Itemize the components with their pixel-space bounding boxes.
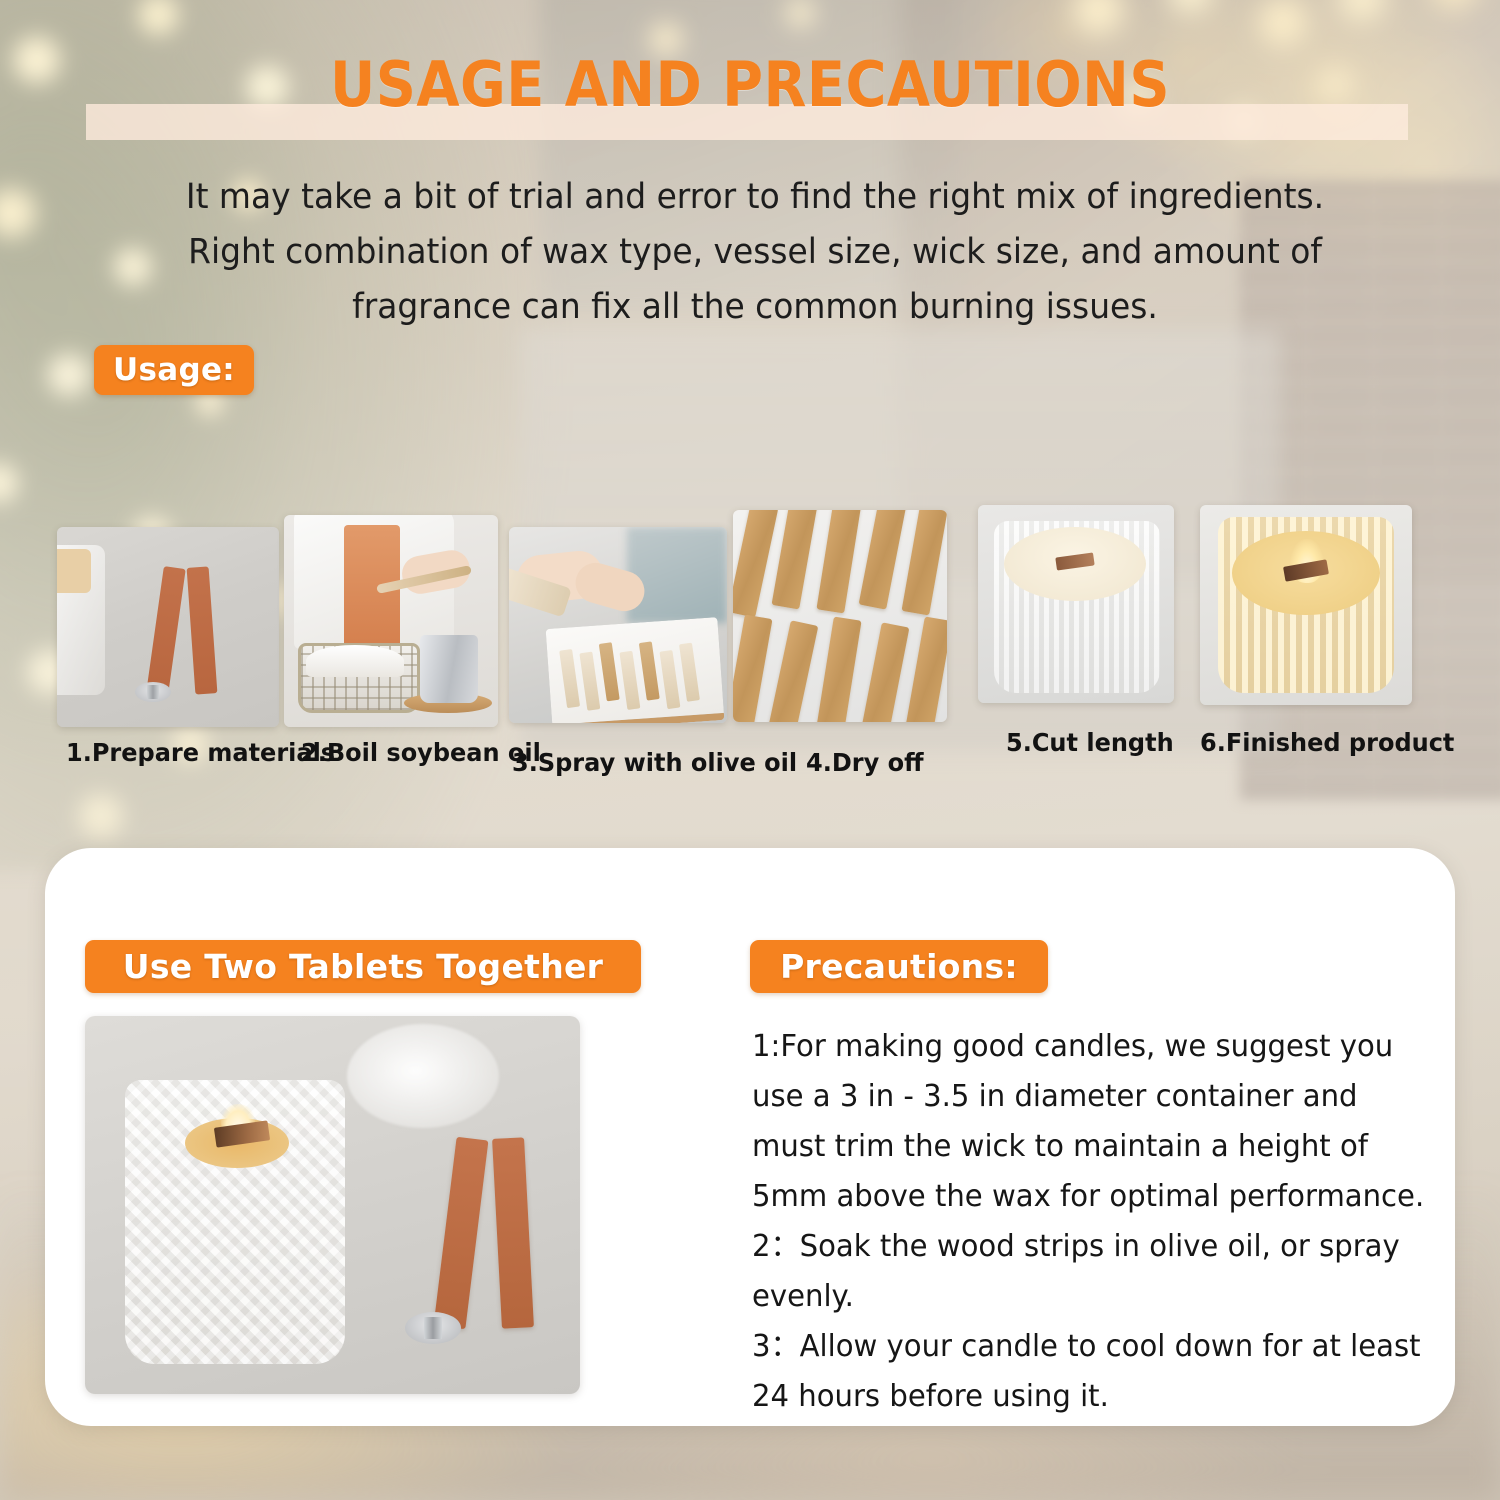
- intro-line-1: It may take a bit of trial and error to …: [149, 170, 1362, 225]
- step2-wax-flakes: [306, 645, 404, 677]
- usage-badge: Usage:: [94, 345, 254, 395]
- intro-line-3: fragrance can fix all the common burning…: [149, 280, 1362, 335]
- intro-line-2: Right combination of wax type, vessel si…: [149, 225, 1362, 280]
- glass-lid: [347, 1024, 499, 1128]
- step-caption: 3.Spray with olive oil: [512, 748, 797, 777]
- step3-wood-strip: [579, 652, 600, 711]
- step3-wood-strip: [639, 641, 660, 700]
- step-caption: 4.Dry off: [806, 748, 924, 777]
- precaution-item: 3：Allow your candle to cool down for at …: [752, 1322, 1431, 1422]
- step-photo-finished-product: [1200, 505, 1412, 705]
- step3-wood-strip: [679, 643, 700, 702]
- precautions-list: 1:For making good candles, we suggest yo…: [752, 1022, 1431, 1422]
- step3-wood-strip: [659, 650, 680, 709]
- metal-wick-clip: [405, 1312, 461, 1344]
- step-caption: 2.Boil soybean oil: [301, 738, 541, 767]
- step-photo-dry-off: [733, 510, 947, 722]
- use-two-tablets-badge: Use Two Tablets Together: [85, 940, 641, 993]
- step-photo-boil-soybean-oil: [284, 515, 498, 727]
- step-photo-prepare-materials: [57, 527, 279, 727]
- page-title: USAGE AND PRECAUTIONS: [75, 48, 1425, 121]
- step-caption: 1.Prepare materials: [66, 738, 335, 767]
- step3-wood-strip: [599, 642, 620, 701]
- infographic-page: USAGE AND PRECAUTIONS It may take a bit …: [0, 0, 1500, 1500]
- two-tablets-photo: [85, 1016, 580, 1394]
- step-caption: 6.Finished product: [1200, 728, 1454, 757]
- wood-wick-strip: [492, 1137, 534, 1328]
- precaution-item: 1:For making good candles, we suggest yo…: [752, 1022, 1431, 1222]
- intro-paragraph: It may take a bit of trial and error to …: [149, 170, 1362, 335]
- step-photo-cut-length: [978, 505, 1174, 703]
- precautions-badge: Precautions:: [750, 940, 1048, 993]
- step3-wood-strip: [619, 651, 640, 710]
- wood-wick-strip: [434, 1137, 489, 1329]
- step3-background-chair: [627, 527, 727, 623]
- step3-wood-strip: [559, 649, 580, 708]
- step1-wax-block: [57, 549, 91, 593]
- precaution-item: 2：Soak the wood strips in olive oil, or …: [752, 1222, 1431, 1322]
- step-photo-spray-olive-oil: [509, 527, 727, 723]
- step-caption: 5.Cut length: [1006, 728, 1174, 757]
- step3-cutting-board: [546, 617, 725, 723]
- step1-metal-wick-clip: [135, 682, 171, 702]
- step2-steel-pot: [420, 635, 478, 703]
